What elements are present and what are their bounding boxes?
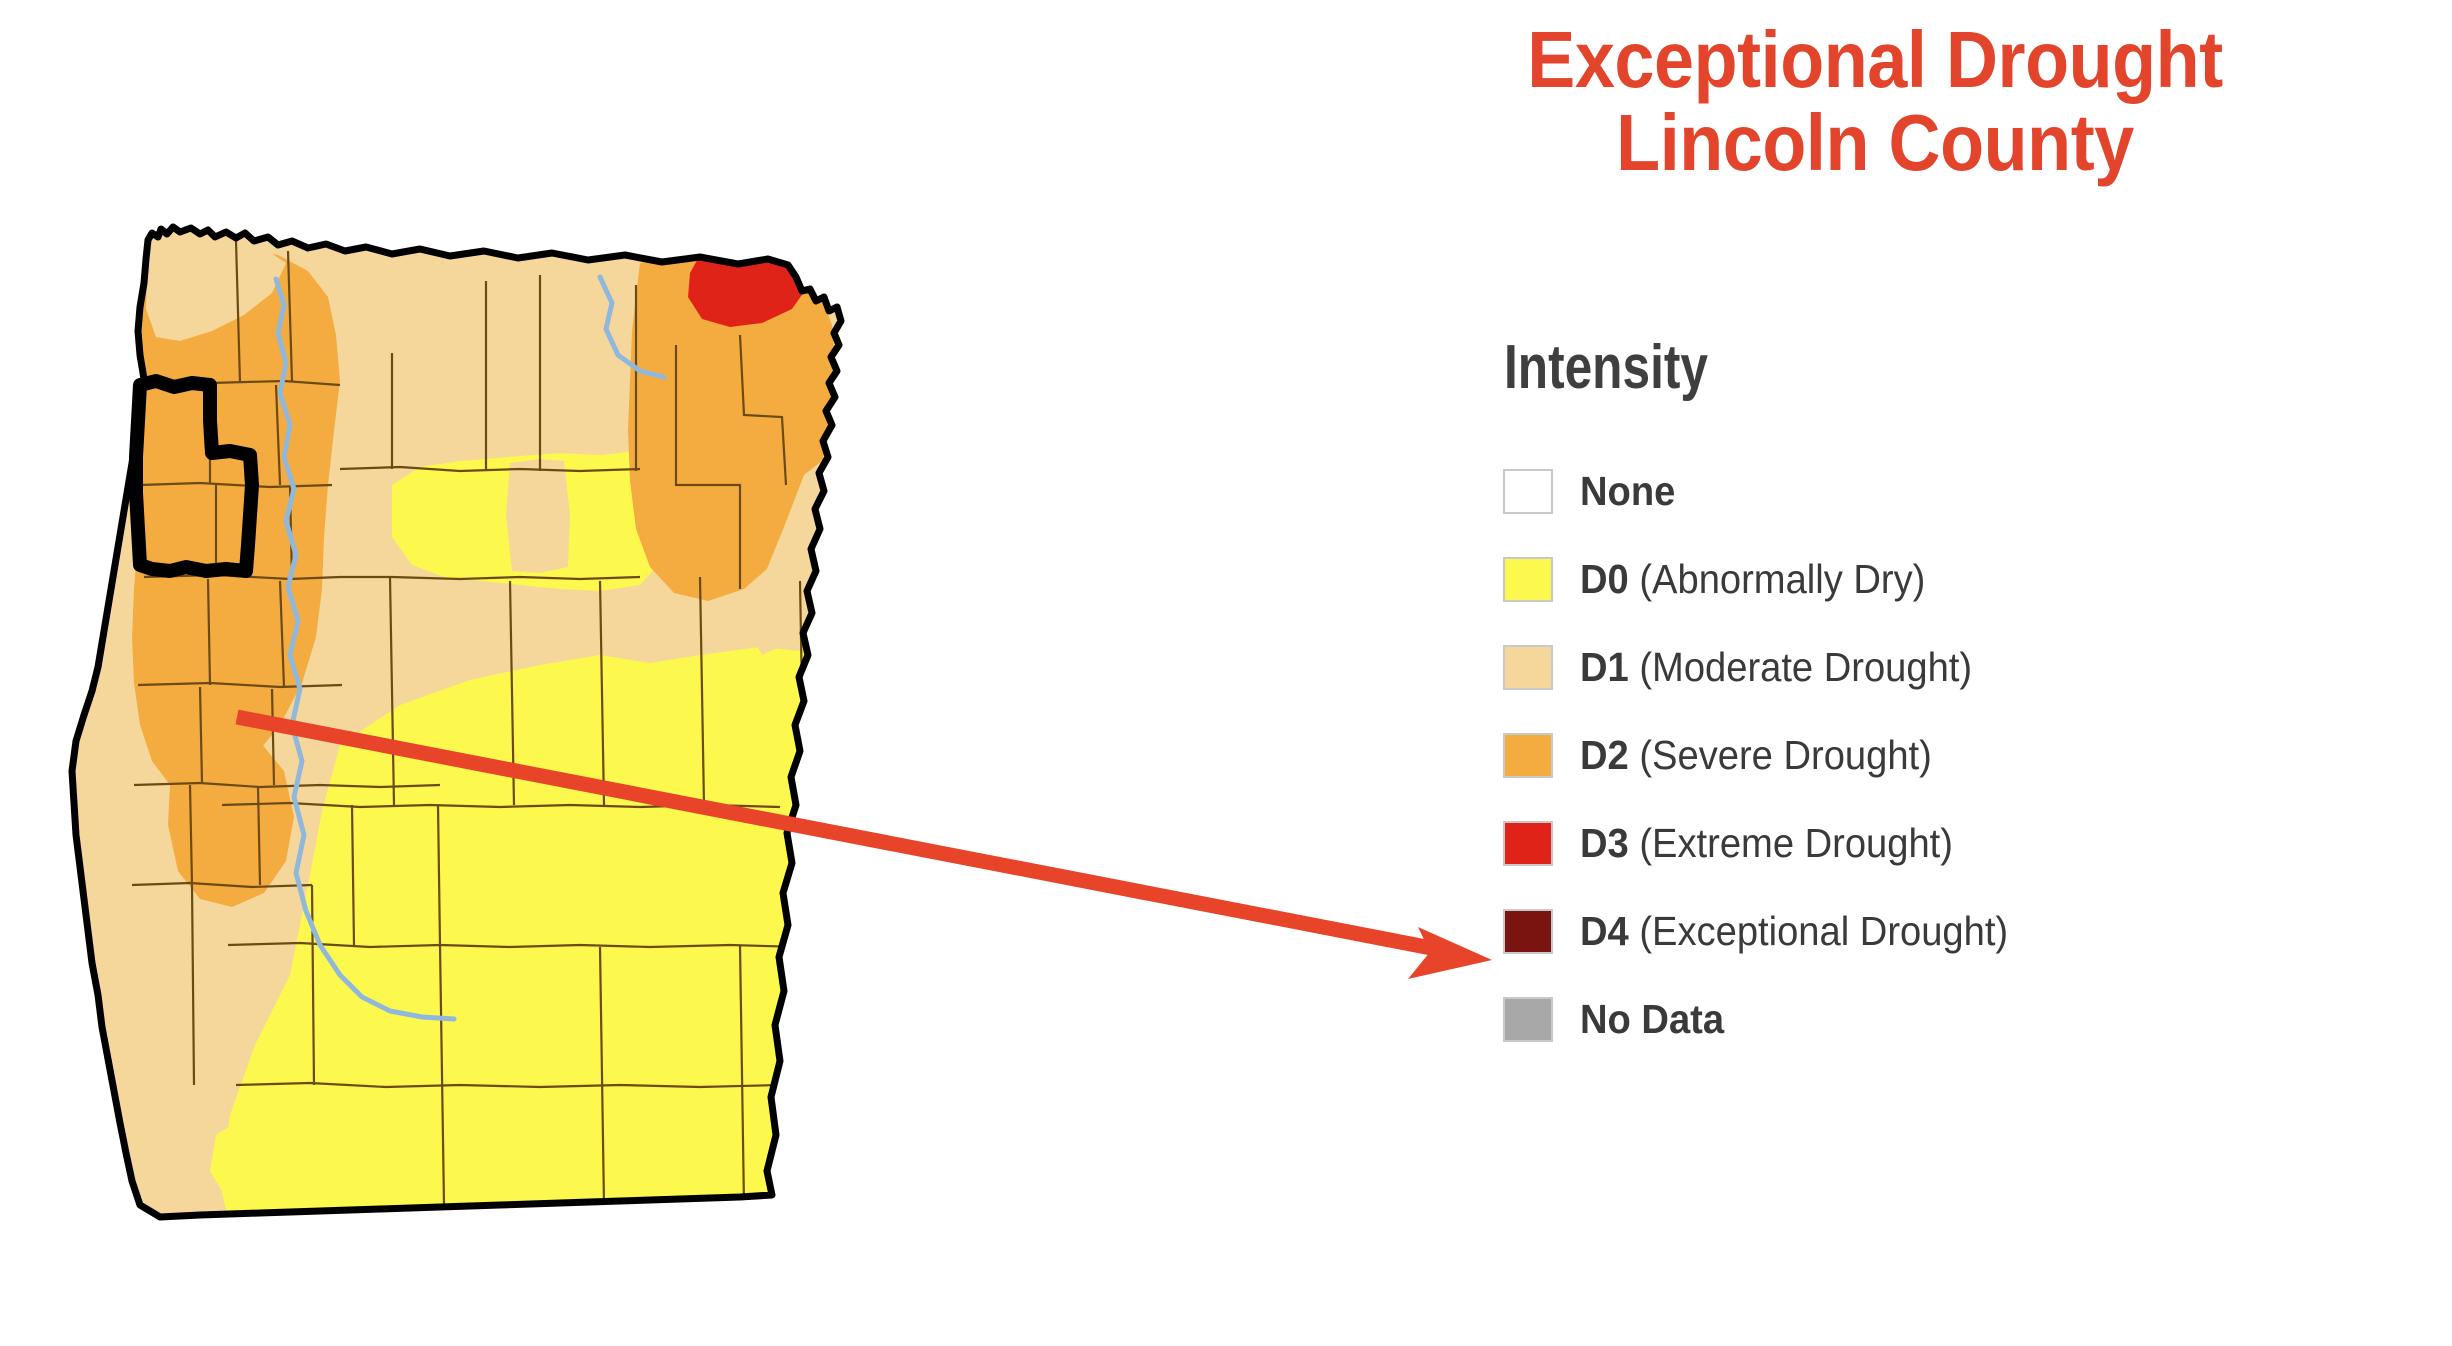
legend-label-none: None — [1580, 466, 1675, 516]
legend-code-d1: D1 — [1580, 644, 1629, 690]
legend-item-d4: D4 (Exceptional Drought) — [1503, 906, 2403, 994]
legend-label-d0: D0 (Abnormally Dry) — [1580, 554, 1925, 604]
legend-item-d0: D0 (Abnormally Dry) — [1503, 554, 2403, 642]
page-title: Exceptional Drought Lincoln County — [1330, 22, 2420, 182]
legend-item-d1: D1 (Moderate Drought) — [1503, 642, 2403, 730]
legend-item-d2: D2 (Severe Drought) — [1503, 730, 2403, 818]
legend-label-no-data: No Data — [1580, 994, 1724, 1044]
legend-label-d1: D1 (Moderate Drought) — [1580, 642, 1972, 692]
legend-desc-d0: (Abnormally Dry) — [1639, 556, 1925, 602]
arrow-head-icon — [1408, 927, 1492, 979]
legend-desc-d1: (Moderate Drought) — [1639, 644, 1972, 690]
legend-desc-d2: (Severe Drought) — [1639, 732, 1931, 778]
legend-code-d3: D3 — [1580, 820, 1629, 866]
legend-item-d3: D3 (Extreme Drought) — [1503, 818, 2403, 906]
legend-code-d2: D2 — [1580, 732, 1629, 778]
oregon-drought-map — [40, 185, 900, 1265]
region-d1-inset-north-central — [506, 459, 570, 573]
title-line-1: Exceptional Drought — [1385, 22, 2366, 99]
legend-code-d4: D4 — [1580, 908, 1629, 954]
legend-code-none: None — [1580, 468, 1675, 514]
legend-label-d3: D3 (Extreme Drought) — [1580, 818, 1953, 868]
legend-label-d2: D2 (Severe Drought) — [1580, 730, 1932, 780]
poster-canvas: Exceptional Drought Lincoln County Inten… — [0, 0, 2452, 1346]
title-line-2: Lincoln County — [1385, 105, 2366, 182]
legend-swatch-none — [1503, 469, 1553, 514]
legend-code-no-data: No Data — [1580, 996, 1724, 1042]
legend-desc-d3: (Extreme Drought) — [1639, 820, 1953, 866]
legend-item-none: None — [1503, 466, 2403, 554]
legend-swatch-d0 — [1503, 557, 1553, 602]
legend-swatch-d1 — [1503, 645, 1553, 690]
oregon-map-svg — [40, 185, 900, 1265]
legend-code-d0: D0 — [1580, 556, 1629, 602]
legend-swatch-no-data — [1503, 997, 1553, 1042]
drought-intensity-legend: None D0 (Abnormally Dry) D1 (Moderate Dr… — [1503, 466, 2403, 1082]
legend-item-no-data: No Data — [1503, 994, 2403, 1082]
legend-swatch-d4 — [1503, 909, 1553, 954]
legend-desc-d4: (Exceptional Drought) — [1639, 908, 2008, 954]
legend-label-d4: D4 (Exceptional Drought) — [1580, 906, 2008, 956]
legend-swatch-d2 — [1503, 733, 1553, 778]
legend-swatch-d3 — [1503, 821, 1553, 866]
legend-heading: Intensity — [1504, 332, 1708, 403]
